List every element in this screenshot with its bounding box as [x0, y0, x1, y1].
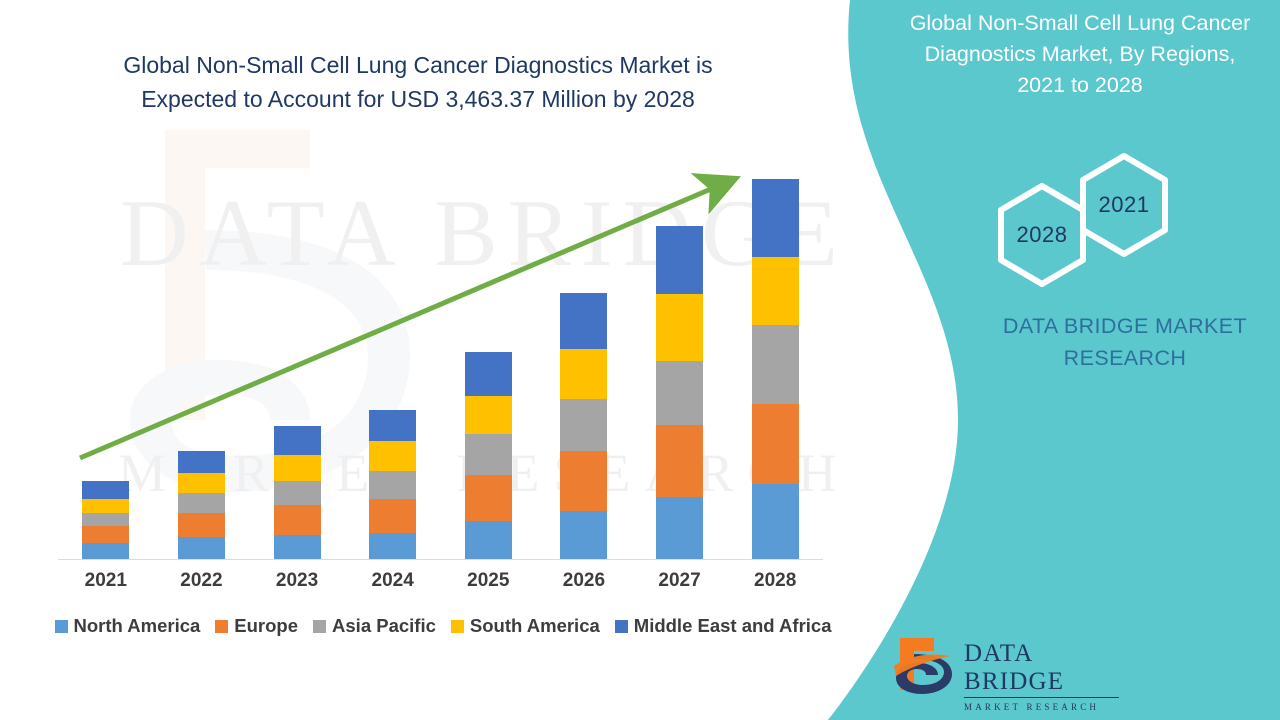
bar-segment	[656, 226, 703, 293]
bar-segment	[560, 399, 607, 450]
bar-segment	[178, 537, 225, 559]
logo-tagline: MARKET RESEARCH	[964, 702, 1119, 712]
hexagon-2028: 2028	[993, 180, 1091, 290]
bar-segment	[465, 475, 512, 521]
legend-label: North America	[74, 615, 201, 637]
bar-2023[interactable]	[274, 426, 321, 559]
data-bridge-logo-mark	[888, 634, 958, 706]
bar-segment	[560, 293, 607, 349]
legend-label: Middle East and Africa	[634, 615, 832, 637]
legend-label: Europe	[234, 615, 298, 637]
bar-segment	[752, 404, 799, 483]
page-title: Global Non-Small Cell Lung Cancer Diagno…	[78, 48, 758, 116]
bar-segment	[369, 533, 416, 559]
hexagon-group: 2021 2028	[975, 150, 1185, 285]
legend-swatch-icon	[451, 620, 464, 633]
stacked-bar-chart	[58, 140, 823, 560]
bar-segment	[274, 505, 321, 535]
x-tick-2028: 2028	[745, 570, 805, 592]
bar-segment	[656, 425, 703, 496]
data-bridge-logo: DATA BRIDGE MARKET RESEARCH	[888, 634, 1118, 708]
bar-segment	[178, 451, 225, 473]
bar-segment	[752, 179, 799, 256]
legend-swatch-icon	[55, 620, 68, 633]
x-tick-2022: 2022	[171, 570, 231, 592]
bar-segment	[560, 349, 607, 399]
bar-segment	[82, 481, 129, 499]
bar-segment	[465, 521, 512, 559]
chart-plot-area	[58, 140, 823, 560]
legend-swatch-icon	[615, 620, 628, 633]
bar-segment	[274, 426, 321, 454]
bar-segment	[178, 493, 225, 513]
bar-2022[interactable]	[178, 450, 225, 559]
bar-segment	[560, 451, 607, 511]
x-tick-2027: 2027	[650, 570, 710, 592]
bar-segment	[369, 499, 416, 533]
bar-segment	[656, 361, 703, 425]
hexagon-2028-label: 2028	[993, 222, 1091, 248]
bar-2027[interactable]	[656, 226, 703, 559]
x-tick-2024: 2024	[363, 570, 423, 592]
bar-segment	[752, 484, 799, 559]
bar-2026[interactable]	[560, 293, 607, 559]
bar-segment	[369, 471, 416, 499]
bar-segment	[274, 535, 321, 559]
data-bridge-logo-words: DATA BRIDGE MARKET RESEARCH	[964, 640, 1119, 712]
bar-segment	[752, 325, 799, 404]
legend-item[interactable]: North America	[55, 615, 201, 637]
legend-item[interactable]: South America	[451, 615, 600, 637]
legend-label: South America	[470, 615, 600, 637]
bar-segment	[274, 481, 321, 505]
bar-segment	[82, 513, 129, 526]
x-tick-2025: 2025	[458, 570, 518, 592]
logo-name: DATA BRIDGE	[964, 640, 1119, 698]
legend-item[interactable]: Middle East and Africa	[615, 615, 832, 637]
bar-segment	[82, 543, 129, 559]
legend-item[interactable]: Asia Pacific	[313, 615, 436, 637]
bar-segment	[274, 455, 321, 481]
panel-brand-text: DATA BRIDGE MARKET RESEARCH	[965, 310, 1280, 374]
bar-2028[interactable]	[752, 179, 799, 559]
bar-segment	[752, 257, 799, 325]
bar-segment	[656, 497, 703, 559]
bar-segment	[82, 499, 129, 513]
panel-heading: Global Non-Small Cell Lung Cancer Diagno…	[905, 8, 1255, 101]
bar-segment	[369, 410, 416, 441]
legend-swatch-icon	[215, 620, 228, 633]
bar-2021[interactable]	[82, 481, 129, 559]
x-tick-2026: 2026	[554, 570, 614, 592]
bar-segment	[465, 352, 512, 396]
bar-segment	[560, 511, 607, 559]
bar-segment	[465, 396, 512, 434]
bar-segment	[656, 294, 703, 361]
bar-segment	[465, 434, 512, 474]
x-axis-line	[58, 559, 823, 560]
legend-label: Asia Pacific	[332, 615, 436, 637]
x-axis-tick-labels: 20212022202320242025202620272028	[58, 570, 823, 598]
bar-2025[interactable]	[465, 352, 512, 559]
legend-swatch-icon	[313, 620, 326, 633]
bar-segment	[369, 441, 416, 470]
x-tick-2023: 2023	[267, 570, 327, 592]
bar-segment	[178, 473, 225, 493]
slide-canvas: DATA BRIDGE MARKET RESEARCH Global Non-S…	[0, 0, 1280, 720]
legend-item[interactable]: Europe	[215, 615, 298, 637]
bar-segment	[178, 513, 225, 537]
bar-2024[interactable]	[369, 410, 416, 559]
x-tick-2021: 2021	[76, 570, 136, 592]
chart-legend: North AmericaEuropeAsia PacificSouth Ame…	[58, 615, 828, 637]
bar-segment	[82, 526, 129, 543]
